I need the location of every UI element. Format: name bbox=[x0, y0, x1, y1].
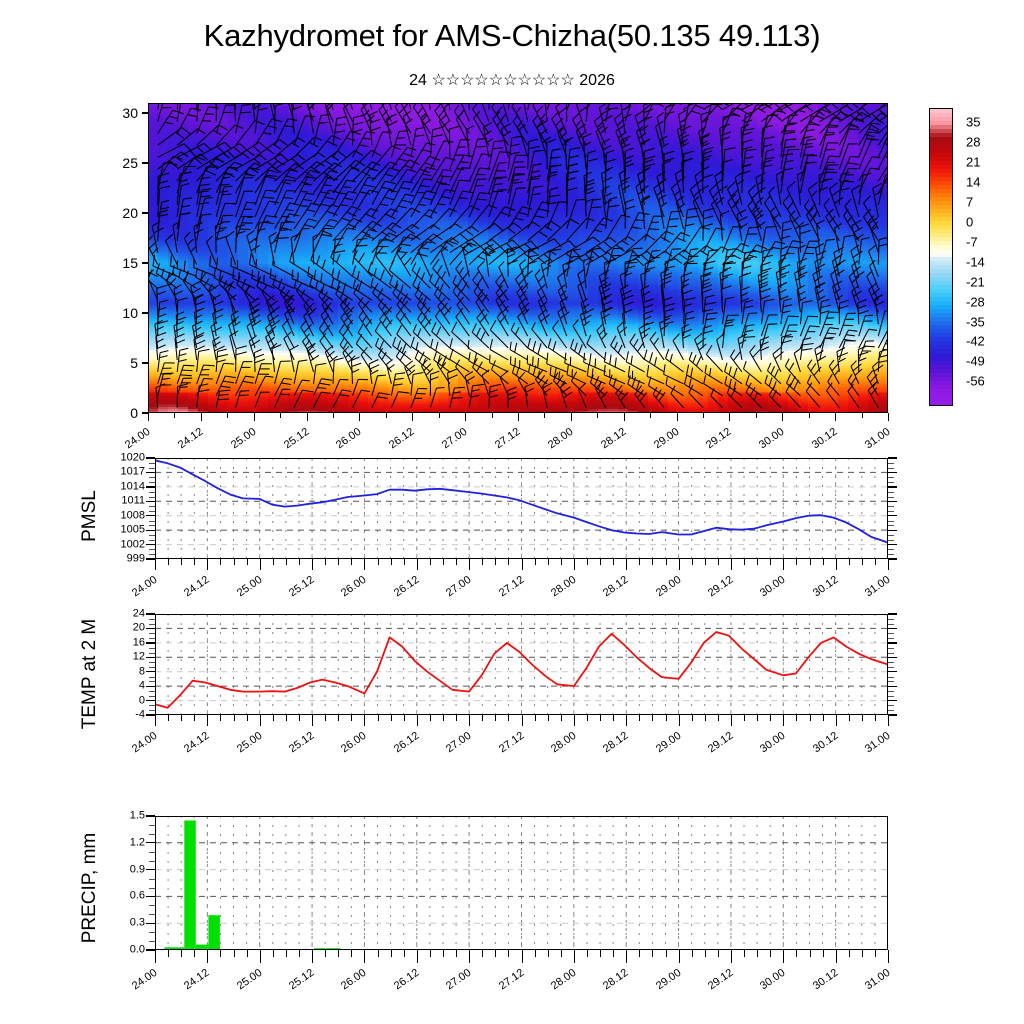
precip-x-minor-tick bbox=[378, 950, 379, 957]
pmsl-y-tickmark-right bbox=[888, 544, 897, 545]
profile-x-minor-tick bbox=[650, 413, 651, 418]
precip-frame bbox=[155, 816, 888, 950]
pmsl-x-minor-tick bbox=[430, 559, 431, 565]
pmsl-y-tickmark-right bbox=[888, 501, 897, 502]
pmsl-y-tick-1008: 1008 bbox=[93, 510, 145, 521]
temp-y-minor-tick bbox=[149, 710, 155, 711]
profile-y-tick-25: 25 bbox=[96, 156, 138, 170]
temp-x-minor-tick bbox=[744, 715, 745, 721]
pmsl-x-minor-tick bbox=[456, 559, 457, 565]
pmsl-x-minor-tick bbox=[273, 559, 274, 565]
colorbar-tick-14: 14 bbox=[966, 175, 980, 190]
temp-x-minor-tick bbox=[692, 715, 693, 721]
temp-y-minor-tick bbox=[149, 705, 155, 706]
precip-x-tick-24.12: 24.12 bbox=[169, 967, 212, 1002]
temp-y-tick-0: 0 bbox=[93, 695, 145, 706]
pmsl-y-tick-999: 999 bbox=[93, 554, 145, 565]
pmsl-x-tickmark bbox=[783, 559, 784, 570]
pmsl-y-minor-tick bbox=[149, 525, 155, 526]
pmsl-x-minor-tick bbox=[692, 559, 693, 565]
temp-x-minor-tick bbox=[757, 715, 758, 721]
precip-y-tick-1p2: 1.2 bbox=[95, 837, 145, 848]
temp-x-minor-tick bbox=[299, 715, 300, 721]
pmsl-x-minor-tick bbox=[875, 559, 876, 565]
precip-y-tickmark bbox=[146, 815, 155, 816]
pmsl-y-tickmark bbox=[146, 544, 155, 545]
pmsl-x-tick-24.12: 24.12 bbox=[169, 574, 212, 609]
pmsl-y-tickmark-right bbox=[888, 486, 897, 487]
temp-x-minor-tick bbox=[220, 715, 221, 721]
precip-x-minor-tick bbox=[823, 950, 824, 957]
upper-air-profile-panel bbox=[148, 103, 888, 413]
temp-y-minor-tick-right bbox=[888, 681, 894, 682]
temp-x-minor-tick bbox=[273, 715, 274, 721]
subtitle-day: 24 bbox=[409, 72, 427, 89]
temp-x-tickmark bbox=[679, 715, 680, 726]
pmsl-y-minor-tick-right bbox=[888, 554, 894, 555]
temp-x-minor-tick bbox=[849, 715, 850, 721]
temp-x-minor-tick bbox=[482, 715, 483, 721]
pmsl-y-tickmark-right bbox=[888, 530, 897, 531]
profile-x-minor-tick bbox=[254, 413, 255, 418]
precip-x-minor-tick bbox=[495, 950, 496, 957]
temp-y-minor-tick-right bbox=[888, 624, 894, 625]
profile-x-minor-tick bbox=[280, 413, 281, 418]
pmsl-x-minor-tick bbox=[823, 559, 824, 565]
pmsl-y-minor-tick-right bbox=[888, 497, 894, 498]
colorbar-tick-neg7: -7 bbox=[966, 234, 978, 249]
profile-y-tick-30: 30 bbox=[96, 106, 138, 120]
pmsl-y-minor-tick-right bbox=[888, 482, 894, 483]
temp-y-tickmark bbox=[146, 671, 155, 672]
profile-y-tick-20: 20 bbox=[96, 206, 138, 220]
temp-y-tickmark-right bbox=[888, 671, 897, 672]
precip-x-minor-tick bbox=[875, 950, 876, 957]
precip-x-tickmark bbox=[364, 950, 365, 963]
profile-x-minor-tick bbox=[888, 413, 889, 418]
pmsl-x-minor-tick bbox=[535, 559, 536, 565]
profile-x-minor-tick bbox=[465, 413, 466, 418]
pmsl-y-minor-tick bbox=[149, 540, 155, 541]
temp-x-minor-tick bbox=[823, 715, 824, 721]
pmsl-y-tick-1020: 1020 bbox=[93, 453, 145, 464]
profile-x-minor-tick bbox=[412, 413, 413, 418]
temp-x-tick-31.00: 31.00 bbox=[849, 730, 892, 765]
pmsl-y-tickmark-right bbox=[888, 558, 897, 559]
temp-y-minor-tick-right bbox=[888, 653, 894, 654]
precip-x-minor-tick bbox=[273, 950, 274, 957]
precip-x-tickmark bbox=[312, 950, 313, 963]
precip-x-tickmark bbox=[469, 950, 470, 963]
temp-panel bbox=[155, 614, 888, 715]
precip-x-minor-tick bbox=[430, 950, 431, 957]
temp-x-minor-tick bbox=[325, 715, 326, 721]
pmsl-y-minor-tick-right bbox=[888, 540, 894, 541]
precip-x-minor-tick bbox=[810, 950, 811, 957]
temp-y-tickmark bbox=[146, 613, 155, 614]
precip-x-minor-tick bbox=[692, 950, 693, 957]
temp-x-minor-tick bbox=[718, 715, 719, 721]
pmsl-x-tick-31.00: 31.00 bbox=[849, 574, 892, 609]
pmsl-x-tick-30.12: 30.12 bbox=[797, 574, 840, 609]
subtitle-year: 2026 bbox=[579, 72, 615, 89]
precip-x-tickmark bbox=[626, 950, 627, 963]
precip-x-minor-tick bbox=[456, 950, 457, 957]
temp-x-minor-tick bbox=[508, 715, 509, 721]
pmsl-x-minor-tick bbox=[299, 559, 300, 565]
precip-x-tickmark bbox=[207, 950, 208, 963]
temp-y-minor-tick bbox=[149, 667, 155, 668]
pmsl-x-tick-27.12: 27.12 bbox=[483, 574, 526, 609]
precip-x-minor-tick bbox=[338, 950, 339, 957]
precip-x-tick-30.00: 30.00 bbox=[745, 967, 788, 1002]
precip-x-minor-tick bbox=[849, 950, 850, 957]
colorbar-tick-neg49: -49 bbox=[966, 354, 985, 369]
pmsl-y-tickmark bbox=[146, 457, 155, 458]
profile-x-tick-26.12: 26.12 bbox=[372, 426, 417, 462]
precip-x-minor-tick bbox=[548, 950, 549, 957]
pmsl-x-minor-tick bbox=[482, 559, 483, 565]
precip-x-minor-tick bbox=[325, 950, 326, 957]
colorbar-gradient bbox=[930, 109, 952, 405]
precip-x-minor-tick bbox=[613, 950, 614, 957]
precip-y-minor-tick bbox=[149, 861, 155, 862]
temp-y-tickmark-right bbox=[888, 657, 897, 658]
pmsl-y-minor-tick-right bbox=[888, 535, 894, 536]
temp-y-minor-tick-right bbox=[888, 691, 894, 692]
precip-x-tickmark bbox=[522, 950, 523, 963]
temp-x-minor-tick bbox=[391, 715, 392, 721]
pmsl-x-tick-29.12: 29.12 bbox=[692, 574, 735, 609]
pmsl-x-tick-25.00: 25.00 bbox=[221, 574, 264, 609]
temp-y-minor-tick-right bbox=[888, 662, 894, 663]
precip-y-minor-tick bbox=[149, 852, 155, 853]
pmsl-x-minor-tick bbox=[495, 559, 496, 565]
profile-x-minor-tick bbox=[703, 413, 704, 418]
temp-x-tick-29.12: 29.12 bbox=[692, 730, 735, 765]
temp-x-tick-24.12: 24.12 bbox=[169, 730, 212, 765]
profile-x-minor-tick bbox=[544, 413, 545, 418]
precip-x-tick-28.12: 28.12 bbox=[588, 967, 631, 1002]
pmsl-x-tickmark bbox=[888, 559, 889, 570]
precip-x-minor-tick bbox=[247, 950, 248, 957]
precip-x-tickmark bbox=[260, 950, 261, 963]
precip-x-minor-tick bbox=[561, 950, 562, 957]
pmsl-x-minor-tick bbox=[587, 559, 588, 565]
pmsl-x-tickmark bbox=[207, 559, 208, 570]
profile-x-minor-tick bbox=[571, 413, 572, 418]
precip-x-tick-27.12: 27.12 bbox=[483, 967, 526, 1002]
pmsl-y-minor-tick bbox=[149, 477, 155, 478]
pmsl-x-minor-tick bbox=[666, 559, 667, 565]
precip-y-minor-tick bbox=[149, 905, 155, 906]
profile-x-minor-tick bbox=[359, 413, 360, 418]
temp-x-tick-29.00: 29.00 bbox=[640, 730, 683, 765]
pmsl-x-tickmark bbox=[522, 559, 523, 570]
profile-x-tick-24.12: 24.12 bbox=[161, 426, 206, 462]
precip-x-tick-29.12: 29.12 bbox=[692, 967, 735, 1002]
precip-x-minor-tick bbox=[652, 950, 653, 957]
pmsl-x-minor-tick bbox=[220, 559, 221, 565]
temp-y-tickmark bbox=[146, 642, 155, 643]
precip-x-tick-26.00: 26.00 bbox=[326, 967, 369, 1002]
profile-x-tick-31.00: 31.00 bbox=[848, 426, 893, 462]
temp-x-minor-tick bbox=[652, 715, 653, 721]
profile-x-minor-tick bbox=[227, 413, 228, 418]
precip-x-minor-tick bbox=[508, 950, 509, 957]
pmsl-x-minor-tick bbox=[744, 559, 745, 565]
temp-y-minor-tick bbox=[149, 653, 155, 654]
pmsl-y-minor-tick-right bbox=[888, 506, 894, 507]
temp-y-tickmark-right bbox=[888, 686, 897, 687]
profile-x-tick-30.12: 30.12 bbox=[795, 426, 840, 462]
page-title: Kazhydromet for AMS-Chizha(50.135 49.113… bbox=[0, 18, 1024, 54]
temp-x-minor-tick bbox=[600, 715, 601, 721]
temp-x-tick-27.00: 27.00 bbox=[431, 730, 474, 765]
profile-x-tick-30.00: 30.00 bbox=[742, 426, 787, 462]
profile-x-minor-tick bbox=[307, 413, 308, 418]
temp-y-tick-16: 16 bbox=[93, 637, 145, 648]
colorbar-tick-neg21: -21 bbox=[966, 274, 985, 289]
precip-x-minor-tick bbox=[770, 950, 771, 957]
pmsl-y-tickmark-right bbox=[888, 515, 897, 516]
temp-x-minor-tick bbox=[810, 715, 811, 721]
temp-x-tick-26.00: 26.00 bbox=[326, 730, 369, 765]
temp-x-minor-tick bbox=[495, 715, 496, 721]
colorbar-tick-7: 7 bbox=[966, 194, 973, 209]
precip-x-minor-tick bbox=[220, 950, 221, 957]
precip-x-tick-29.00: 29.00 bbox=[640, 967, 683, 1002]
temp-y-minor-tick bbox=[149, 638, 155, 639]
temp-y-minor-tick bbox=[149, 681, 155, 682]
precip-x-minor-tick bbox=[181, 950, 182, 957]
precip-x-minor-tick bbox=[600, 950, 601, 957]
precip-x-tickmark bbox=[731, 950, 732, 963]
pmsl-y-tickmark-right bbox=[888, 457, 897, 458]
temp-y-tick-8: 8 bbox=[93, 666, 145, 677]
precip-x-tick-26.12: 26.12 bbox=[378, 967, 421, 1002]
temp-x-minor-tick bbox=[639, 715, 640, 721]
pmsl-x-tickmark bbox=[574, 559, 575, 570]
precip-x-minor-tick bbox=[705, 950, 706, 957]
temp-y-minor-tick-right bbox=[888, 696, 894, 697]
temp-x-minor-tick bbox=[862, 715, 863, 721]
temp-x-minor-tick bbox=[378, 715, 379, 721]
pmsl-y-tickmark bbox=[146, 558, 155, 559]
pmsl-x-minor-tick bbox=[652, 559, 653, 565]
pmsl-x-tickmark bbox=[836, 559, 837, 570]
pmsl-x-minor-tick bbox=[600, 559, 601, 565]
precip-x-tick-25.00: 25.00 bbox=[221, 967, 264, 1002]
precip-y-tick-0p6: 0.6 bbox=[95, 891, 145, 902]
profile-y-tickmark bbox=[142, 262, 149, 263]
temp-x-minor-tick bbox=[705, 715, 706, 721]
pmsl-x-tick-24.00: 24.00 bbox=[116, 574, 159, 609]
temp-y-tick-neg4: -4 bbox=[93, 710, 145, 721]
precip-x-tick-28.00: 28.00 bbox=[535, 967, 578, 1002]
temp-x-minor-tick bbox=[247, 715, 248, 721]
profile-y-tick-5: 5 bbox=[96, 356, 138, 370]
temp-y-tickmark-right bbox=[888, 628, 897, 629]
temp-y-minor-tick bbox=[149, 696, 155, 697]
pmsl-x-tick-29.00: 29.00 bbox=[640, 574, 683, 609]
pmsl-y-minor-tick-right bbox=[888, 549, 894, 550]
temp-x-tick-30.12: 30.12 bbox=[797, 730, 840, 765]
precip-x-minor-tick bbox=[535, 950, 536, 957]
precip-x-tick-30.12: 30.12 bbox=[797, 967, 840, 1002]
temp-x-tickmark bbox=[207, 715, 208, 726]
temp-y-tick-24: 24 bbox=[93, 609, 145, 620]
pmsl-x-minor-tick bbox=[325, 559, 326, 565]
temp-y-minor-tick-right bbox=[888, 705, 894, 706]
temp-y-tickmark bbox=[146, 628, 155, 629]
pmsl-x-tickmark bbox=[155, 559, 156, 570]
profile-x-tick-26.00: 26.00 bbox=[319, 426, 364, 462]
pmsl-y-tick-1002: 1002 bbox=[93, 539, 145, 550]
pmsl-y-minor-tick-right bbox=[888, 468, 894, 469]
profile-x-minor-tick bbox=[835, 413, 836, 418]
pmsl-y-minor-tick-right bbox=[888, 477, 894, 478]
profile-x-tick-25.00: 25.00 bbox=[214, 426, 259, 462]
pmsl-panel bbox=[155, 458, 888, 559]
temp-x-tick-30.00: 30.00 bbox=[745, 730, 788, 765]
pmsl-x-tick-26.12: 26.12 bbox=[378, 574, 421, 609]
pmsl-x-minor-tick bbox=[796, 559, 797, 565]
pmsl-x-minor-tick bbox=[443, 559, 444, 565]
pmsl-x-tickmark bbox=[260, 559, 261, 570]
profile-x-tick-25.12: 25.12 bbox=[266, 426, 311, 462]
pmsl-x-minor-tick bbox=[757, 559, 758, 565]
pmsl-x-tickmark bbox=[626, 559, 627, 570]
pmsl-x-minor-tick bbox=[810, 559, 811, 565]
profile-frame bbox=[148, 103, 888, 413]
temp-x-tickmark bbox=[469, 715, 470, 726]
profile-y-tickmark bbox=[142, 162, 149, 163]
pmsl-x-tick-28.12: 28.12 bbox=[588, 574, 631, 609]
temp-x-tickmark bbox=[417, 715, 418, 726]
pmsl-x-minor-tick bbox=[718, 559, 719, 565]
precip-x-minor-tick bbox=[351, 950, 352, 957]
temp-x-minor-tick bbox=[587, 715, 588, 721]
temp-y-minor-tick bbox=[149, 677, 155, 678]
temp-x-minor-tick bbox=[430, 715, 431, 721]
profile-x-minor-tick bbox=[756, 413, 757, 418]
precip-x-minor-tick bbox=[862, 950, 863, 957]
profile-x-tick-29.12: 29.12 bbox=[689, 426, 734, 462]
temp-x-tickmark bbox=[155, 715, 156, 726]
precip-axis-title: PRECIP, mm bbox=[79, 813, 101, 963]
precip-x-minor-tick bbox=[757, 950, 758, 957]
temp-x-minor-tick bbox=[234, 715, 235, 721]
pmsl-x-minor-tick bbox=[234, 559, 235, 565]
temp-x-minor-tick bbox=[286, 715, 287, 721]
temp-x-minor-tick bbox=[535, 715, 536, 721]
pmsl-y-tick-1014: 1014 bbox=[93, 481, 145, 492]
pmsl-y-minor-tick bbox=[149, 511, 155, 512]
temp-x-tick-25.12: 25.12 bbox=[274, 730, 317, 765]
temp-x-minor-tick bbox=[770, 715, 771, 721]
temp-x-minor-tick bbox=[351, 715, 352, 721]
precip-y-minor-tick bbox=[149, 932, 155, 933]
profile-x-minor-tick bbox=[518, 413, 519, 418]
pmsl-x-minor-tick bbox=[770, 559, 771, 565]
pmsl-y-tick-1005: 1005 bbox=[93, 525, 145, 536]
precip-x-tick-25.12: 25.12 bbox=[274, 967, 317, 1002]
precip-x-minor-tick bbox=[194, 950, 195, 957]
temperature-colorbar bbox=[929, 108, 953, 406]
temp-y-tickmark-right bbox=[888, 700, 897, 701]
temp-x-tickmark bbox=[626, 715, 627, 726]
temp-y-tickmark-right bbox=[888, 613, 897, 614]
profile-x-minor-tick bbox=[597, 413, 598, 418]
profile-x-tick-27.00: 27.00 bbox=[425, 426, 470, 462]
pmsl-y-tickmark bbox=[146, 472, 155, 473]
profile-x-minor-tick bbox=[201, 413, 202, 418]
profile-x-tick-29.00: 29.00 bbox=[636, 426, 681, 462]
profile-x-minor-tick bbox=[148, 413, 149, 418]
precip-y-minor-tick bbox=[149, 834, 155, 835]
temp-x-tickmark bbox=[260, 715, 261, 726]
colorbar-tick-neg56: -56 bbox=[966, 374, 985, 389]
temp-x-minor-tick bbox=[613, 715, 614, 721]
precip-x-minor-tick bbox=[587, 950, 588, 957]
temp-x-tick-26.12: 26.12 bbox=[378, 730, 421, 765]
pmsl-y-minor-tick-right bbox=[888, 492, 894, 493]
precip-y-tickmark bbox=[146, 842, 155, 843]
pmsl-x-tickmark bbox=[364, 559, 365, 570]
temp-y-minor-tick bbox=[149, 691, 155, 692]
precip-x-minor-tick bbox=[718, 950, 719, 957]
pmsl-x-tickmark bbox=[417, 559, 418, 570]
temp-y-tickmark-right bbox=[888, 642, 897, 643]
profile-x-minor-tick bbox=[624, 413, 625, 418]
profile-y-tick-15: 15 bbox=[96, 256, 138, 270]
profile-y-tick-10: 10 bbox=[96, 306, 138, 320]
pmsl-x-minor-tick bbox=[247, 559, 248, 565]
precip-x-minor-tick bbox=[299, 950, 300, 957]
profile-y-tickmark bbox=[142, 362, 149, 363]
precip-y-tickmark bbox=[146, 896, 155, 897]
pmsl-x-minor-tick bbox=[561, 559, 562, 565]
profile-x-minor-tick bbox=[333, 413, 334, 418]
profile-x-minor-tick bbox=[492, 413, 493, 418]
temp-x-minor-tick bbox=[181, 715, 182, 721]
temp-y-minor-tick-right bbox=[888, 638, 894, 639]
pmsl-x-tick-27.00: 27.00 bbox=[431, 574, 474, 609]
pmsl-x-tickmark bbox=[469, 559, 470, 570]
pmsl-y-tick-1017: 1017 bbox=[93, 467, 145, 478]
pmsl-x-tick-28.00: 28.00 bbox=[535, 574, 578, 609]
pmsl-x-minor-tick bbox=[286, 559, 287, 565]
pmsl-y-tick-1011: 1011 bbox=[93, 496, 145, 507]
pmsl-y-minor-tick-right bbox=[888, 521, 894, 522]
pmsl-y-minor-tick bbox=[149, 535, 155, 536]
pmsl-y-tickmark bbox=[146, 501, 155, 502]
profile-x-tick-28.00: 28.00 bbox=[531, 426, 576, 462]
precip-x-minor-tick bbox=[286, 950, 287, 957]
pmsl-x-minor-tick bbox=[351, 559, 352, 565]
precip-x-tick-24.00: 24.00 bbox=[116, 967, 159, 1002]
pmsl-y-minor-tick bbox=[149, 506, 155, 507]
precip-panel bbox=[155, 816, 888, 950]
pmsl-y-tickmark bbox=[146, 530, 155, 531]
precip-x-minor-tick bbox=[744, 950, 745, 957]
precip-x-tick-31.00: 31.00 bbox=[849, 967, 892, 1002]
colorbar-tick-neg42: -42 bbox=[966, 334, 985, 349]
precip-x-tickmark bbox=[679, 950, 680, 963]
temp-x-tickmark bbox=[888, 715, 889, 726]
pmsl-y-minor-tick bbox=[149, 468, 155, 469]
